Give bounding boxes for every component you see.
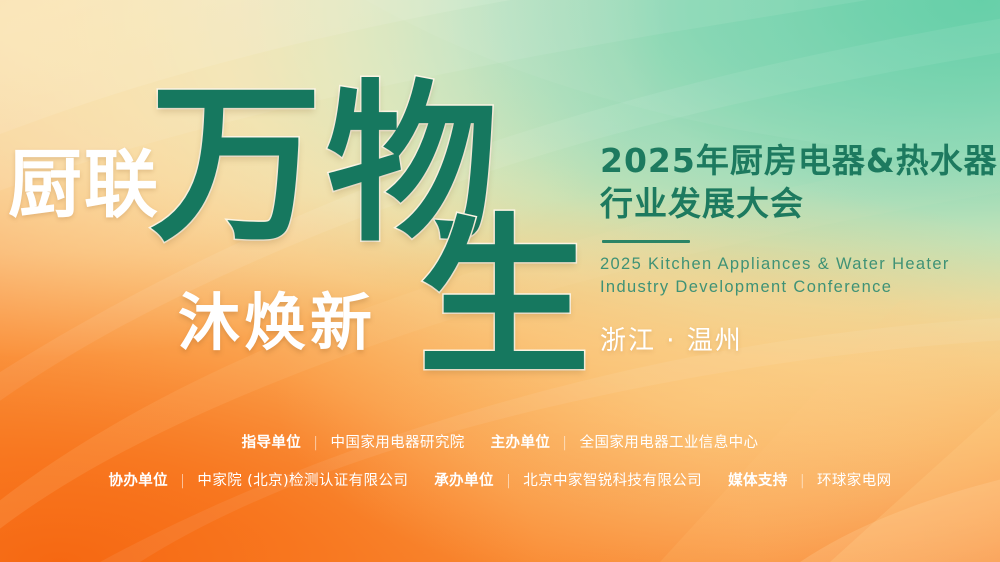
headline-main-bottom: 生 [418,212,590,384]
credit-value: 中国家用电器研究院 [331,435,465,451]
credit-group: 媒体支持 | 环球家电网 [728,473,891,489]
event-location: 浙江 · 温州 [600,320,1000,357]
credits-row-1: 指导单位 | 中国家用电器研究院 主办单位 | 全国家用电器工业信息中心 [0,424,1000,462]
credit-separator: | [180,462,185,500]
credit-separator: | [800,462,805,500]
credit-value: 环球家电网 [817,473,892,489]
conference-poster: 厨联 万物 生 沐焕新 2025年厨房电器&热水器 行业发展大会 2025 Ki… [0,0,1000,562]
credit-separator: | [562,424,567,462]
credit-label: 承办单位 [434,473,494,489]
title-divider-rule [602,240,690,243]
credit-group: 指导单位 | 中国家用电器研究院 [242,435,470,451]
credit-group: 主办单位 | 全国家用电器工业信息中心 [491,435,759,451]
credit-separator: | [313,424,318,462]
credit-separator: | [506,462,511,500]
credit-value: 中家院 (北京)检测认证有限公司 [197,473,408,489]
event-title-cn-line1: 2025年厨房电器&热水器 [600,140,1000,183]
credits-row-2: 协办单位 | 中家院 (北京)检测认证有限公司 承办单位 | 北京中家智锐科技有… [0,462,1000,500]
credit-label: 指导单位 [242,435,302,451]
credit-label: 协办单位 [108,473,168,489]
credit-value: 北京中家智锐科技有限公司 [523,473,702,489]
event-title-block: 2025年厨房电器&热水器 行业发展大会 2025 Kitchen Applia… [600,140,1000,357]
headline-prefix: 厨联 [8,148,160,222]
event-title-en-line2: Industry Development Conference [600,276,1000,299]
headline-subphrase: 沐焕新 [178,292,376,354]
event-title-cn-line2: 行业发展大会 [600,183,1000,226]
event-title-en-line1: 2025 Kitchen Appliances & Water Heater [600,253,1000,276]
credit-label: 媒体支持 [728,473,788,489]
credits-block: 指导单位 | 中国家用电器研究院 主办单位 | 全国家用电器工业信息中心 协办单… [0,424,1000,500]
credit-label: 主办单位 [491,435,551,451]
credit-value: 全国家用电器工业信息中心 [580,435,759,451]
headline-lockup: 厨联 万物 生 沐焕新 [0,0,600,420]
poster-content: 厨联 万物 生 沐焕新 2025年厨房电器&热水器 行业发展大会 2025 Ki… [0,0,1000,562]
credit-group: 承办单位 | 北京中家智锐科技有限公司 [434,473,707,489]
credit-group: 协办单位 | 中家院 (北京)检测认证有限公司 [108,473,413,489]
